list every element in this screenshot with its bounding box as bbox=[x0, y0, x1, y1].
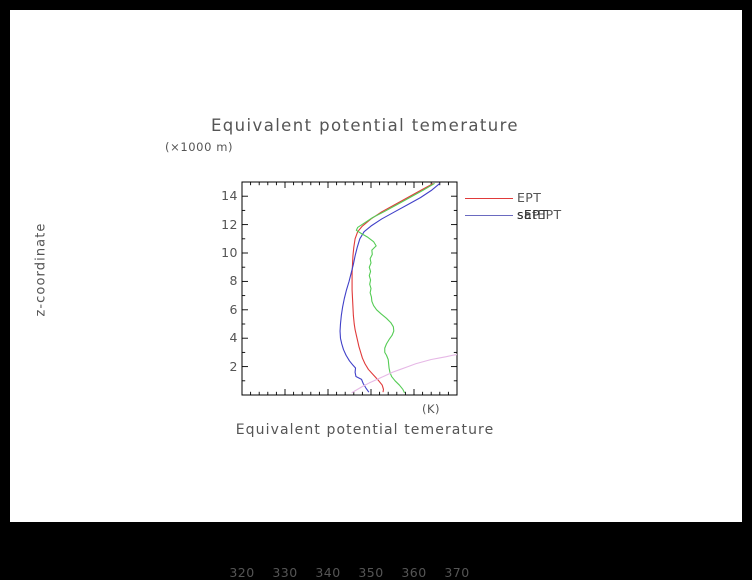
y-tick-label: 4 bbox=[208, 330, 238, 345]
x-tick-label: 340 bbox=[306, 565, 350, 580]
y-tick-label: 6 bbox=[208, 302, 238, 317]
legend-swatch-ept bbox=[465, 198, 513, 199]
plot-area: 320330340350360370 2468101214 bbox=[242, 182, 457, 395]
x-tick-label: 360 bbox=[392, 565, 436, 580]
y-tick-label: 10 bbox=[208, 245, 238, 260]
y-axis-unit-label: (×1000 m) bbox=[165, 140, 233, 154]
x-tick-label: 370 bbox=[435, 565, 479, 580]
legend-entry-satept[interactable]: satEPT sEPT bbox=[465, 207, 585, 224]
legend-entry-ept[interactable]: EPT bbox=[465, 190, 585, 207]
x-tick-label: 330 bbox=[263, 565, 307, 580]
legend: EPT satEPT sEPT bbox=[465, 190, 585, 224]
legend-swatch-satept bbox=[465, 215, 513, 216]
y-tick-label: 12 bbox=[208, 217, 238, 232]
x-tick-label: 320 bbox=[220, 565, 264, 580]
x-axis-unit-label: (K) bbox=[422, 402, 440, 416]
y-tick-label: 14 bbox=[208, 188, 238, 203]
y-tick-label: 2 bbox=[208, 359, 238, 374]
legend-label-sept-overlap: sEPT bbox=[517, 207, 548, 222]
y-axis-title: z-coordinate bbox=[34, 195, 49, 345]
y-tick-label: 8 bbox=[208, 273, 238, 288]
figure-canvas: Equivalent potential temerature (×1000 m… bbox=[10, 10, 742, 522]
plot-frame bbox=[242, 182, 457, 395]
plot-svg bbox=[242, 182, 457, 395]
legend-label-ept: EPT bbox=[517, 190, 541, 205]
chart-title: Equivalent potential temerature bbox=[175, 116, 555, 135]
x-tick-label: 350 bbox=[349, 565, 393, 580]
x-axis-title: Equivalent potential temerature bbox=[160, 422, 570, 438]
